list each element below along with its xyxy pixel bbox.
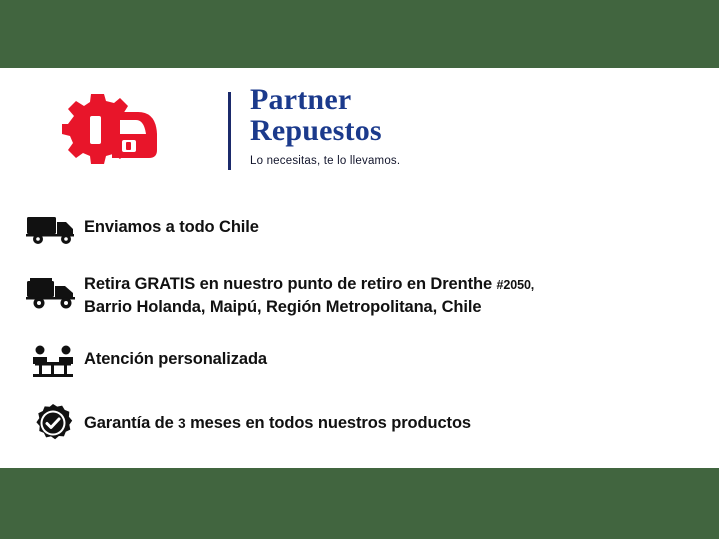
brand-name: Partner Repuestos Lo necesitas, te lo ll… xyxy=(250,84,400,167)
car-gear-logo-icon xyxy=(60,90,160,172)
feature-line2: Barrio Holanda, Maipú, Región Metropolit… xyxy=(84,298,481,316)
brand-name-line2: Repuestos xyxy=(250,115,400,146)
customer-service-desk-icon xyxy=(22,340,84,382)
feature-label: Garantía de 3 meses en todos nuestros pr… xyxy=(84,404,682,435)
list-item: Atención personalizada xyxy=(22,340,682,382)
promo-banner: Partner Repuestos Lo necesitas, te lo ll… xyxy=(0,0,719,539)
warranty-badge-check-icon xyxy=(22,404,84,446)
logo-divider xyxy=(228,92,231,170)
warranty-months-number: 3 xyxy=(178,416,185,431)
delivery-truck-icon xyxy=(22,208,84,250)
list-item: Garantía de 3 meses en todos nuestros pr… xyxy=(22,404,682,446)
brand-name-line1: Partner xyxy=(250,84,400,115)
feature-line1-main: Retira GRATIS en nuestro punto de retiro… xyxy=(84,275,497,293)
feature-line1-number: #2050, xyxy=(497,278,535,292)
feature-label: Enviamos a todo Chile xyxy=(84,208,682,238)
list-item: Enviamos a todo Chile xyxy=(22,208,682,250)
feature-label: Atención personalizada xyxy=(84,340,682,370)
brand-logo-block: Partner Repuestos Lo necesitas, te lo ll… xyxy=(60,88,480,188)
brand-tagline: Lo necesitas, te lo llevamos. xyxy=(250,155,400,167)
pickup-truck-icon xyxy=(22,272,84,314)
warranty-text-part2: meses en todos nuestros productos xyxy=(186,414,471,432)
list-item: Retira GRATIS en nuestro punto de retiro… xyxy=(22,272,682,318)
feature-list: Enviamos a todo Chile xyxy=(22,208,682,468)
feature-label: Retira GRATIS en nuestro punto de retiro… xyxy=(84,272,682,318)
warranty-text-part1: Garantía de xyxy=(84,414,178,432)
